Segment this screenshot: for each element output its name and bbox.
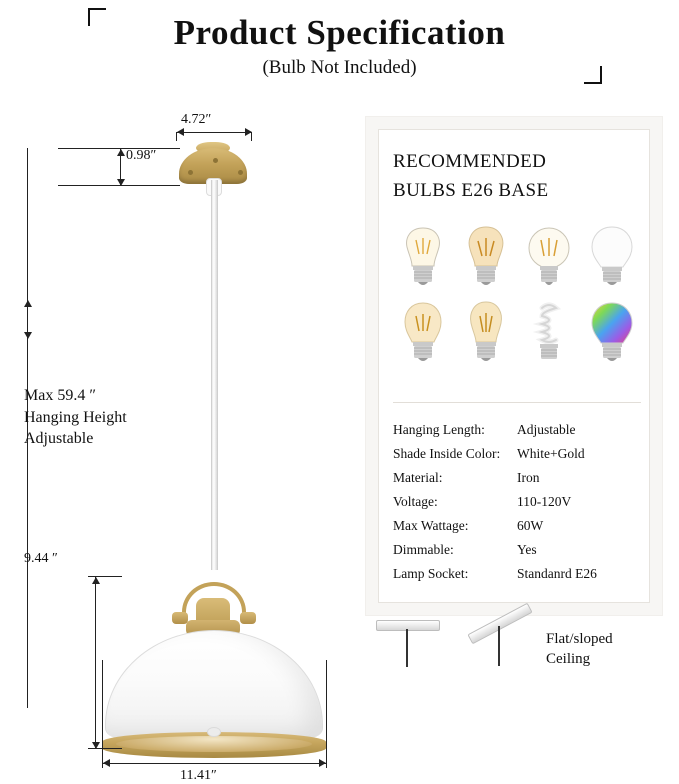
shade-finial [207, 727, 221, 737]
flat-ceiling-stem [406, 629, 408, 667]
spec-value: White+Gold [517, 442, 643, 466]
hanging-height-line1: Max 59.4 ″ [24, 385, 127, 407]
product-spec-page: Product Specification (Bulb Not Included… [0, 0, 679, 698]
header-block: Product Specification (Bulb Not Included… [0, 14, 679, 79]
canopy-width-arrow-left [177, 128, 184, 136]
hanging-height-label: Max 59.4 ″ Hanging Height Adjustable [24, 385, 127, 450]
spec-key: Shade Inside Color: [393, 442, 517, 466]
panel-divider [393, 402, 641, 403]
shade-height-arrow-down [92, 742, 100, 749]
shade-width-line [102, 763, 326, 764]
rgb-smart-color-bulb-icon [583, 298, 641, 368]
canopy-height-arrow-down [117, 179, 125, 186]
mount-label-line2: Ceiling [546, 650, 613, 670]
mount-label: Flat/sloped Ceiling [546, 630, 613, 669]
canopy-width-line [176, 132, 252, 133]
panel-inner-card: RECOMMENDED BULBS E26 BASE [378, 129, 650, 603]
g95-globe-filament-bulb-icon [520, 222, 578, 292]
canopy-height-label: 0.98″ [126, 148, 156, 164]
a60-amber-filament-bulb-icon [394, 298, 452, 368]
mount-label-line1: Flat/sloped [546, 630, 613, 650]
st64-clear-filament-bulb-icon [394, 222, 452, 292]
table-row: Material: Iron [393, 466, 643, 490]
spec-value: Adjustable [517, 418, 643, 442]
shade-width-label: 11.41″ [180, 768, 217, 784]
hanging-height-arrow-down [24, 332, 32, 339]
table-row: Voltage: 110-120V [393, 490, 643, 514]
canopy-width-label: 4.72″ [181, 112, 211, 128]
panel-title-line1: RECOMMENDED [393, 148, 643, 177]
spec-value: 60W [517, 514, 643, 538]
a19-frosted-led-bulb-icon [583, 222, 641, 292]
shade-height-arrow-up [92, 577, 100, 584]
ceiling-mount-illustration: Flat/sloped Ceiling [366, 612, 666, 692]
spec-value: 110-120V [517, 490, 643, 514]
shade-height-label: 9.44 ″ [24, 551, 58, 567]
spec-key: Hanging Length: [393, 418, 517, 442]
canopy-width-arrow-right [245, 128, 252, 136]
sloped-ceiling-stem [498, 626, 500, 666]
flat-ceiling-mount-icon [376, 620, 440, 631]
canopy-screw-left [188, 170, 193, 175]
table-row: Dimmable: Yes [393, 538, 643, 562]
yoke-knob-left [172, 612, 188, 624]
bulb-icon-grid [391, 222, 643, 368]
cfl-spiral-bulb-icon [520, 298, 578, 368]
product-illustration: 4.72″ 0.98″ Max 59.4 ″ Hanging Height Ad… [0, 100, 360, 698]
table-row: Hanging Length: Adjustable [393, 418, 643, 442]
shade-width-arrow-left [103, 759, 110, 767]
canopy-height-arrow-up [117, 149, 125, 156]
canopy-screw-top [213, 158, 218, 163]
table-row: Max Wattage: 60W [393, 514, 643, 538]
yoke-knob-right [240, 612, 256, 624]
spec-value: Standanrd E26 [517, 562, 643, 586]
hanging-cord [211, 180, 218, 570]
panel-title: RECOMMENDED BULBS E26 BASE [393, 148, 643, 205]
hanging-height-line2: Hanging Height [24, 407, 127, 429]
lamp-shade [105, 630, 323, 738]
spec-key: Material: [393, 466, 517, 490]
spec-key: Voltage: [393, 490, 517, 514]
spec-value: Yes [517, 538, 643, 562]
spec-key: Max Wattage: [393, 514, 517, 538]
st58-filament-bulb-icon [457, 298, 515, 368]
spec-value: Iron [517, 466, 643, 490]
hanging-height-arrow-up [24, 300, 32, 307]
spec-key: Lamp Socket: [393, 562, 517, 586]
table-row: Shade Inside Color: White+Gold [393, 442, 643, 466]
page-subtitle: (Bulb Not Included) [0, 57, 679, 79]
spec-key: Dimmable: [393, 538, 517, 562]
shade-width-guide-left [102, 660, 103, 768]
shade-inner-gold [116, 736, 312, 752]
spec-table: Hanging Length: Adjustable Shade Inside … [393, 418, 643, 586]
st64-amber-filament-bulb-icon [457, 222, 515, 292]
table-row: Lamp Socket: Standanrd E26 [393, 562, 643, 586]
shade-height-line [95, 576, 96, 748]
panel-title-line2: BULBS E26 BASE [393, 177, 643, 206]
shade-width-guide-right [326, 660, 327, 768]
shade-width-arrow-right [319, 759, 326, 767]
page-title: Product Specification [0, 14, 679, 53]
canopy-screw-right [238, 170, 243, 175]
recommended-bulbs-panel: RECOMMENDED BULBS E26 BASE [366, 117, 662, 615]
hanging-height-line3: Adjustable [24, 428, 127, 450]
